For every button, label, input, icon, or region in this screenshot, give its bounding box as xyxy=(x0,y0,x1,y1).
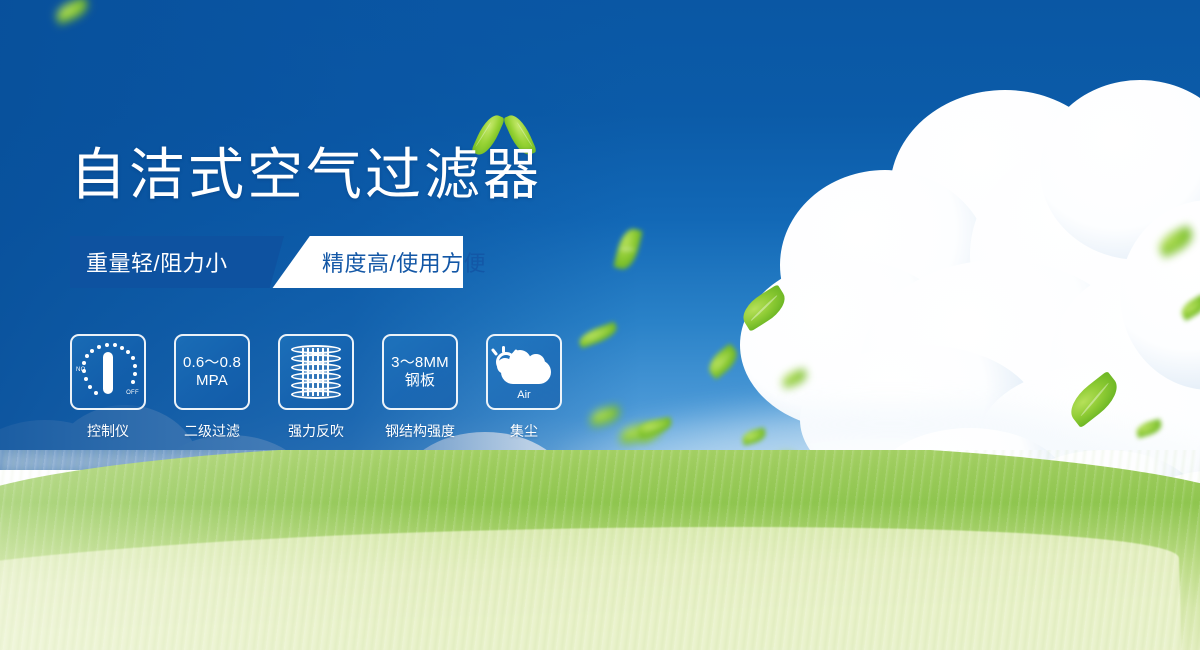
page-title: 自洁式空气过滤器 xyxy=(70,144,542,206)
feature-label: 二级过滤 xyxy=(174,421,250,441)
feature-item-blowback[interactable]: 强力反吹 xyxy=(278,334,354,441)
feature-icon-box: NO OFF xyxy=(70,334,146,410)
pressure-text-icon: 0.6～0.8 MPA xyxy=(183,354,241,391)
subtitle-bar: 重量轻/阻力小 精度高/使用方便 xyxy=(70,236,463,288)
steel-thickness: 3～8MM xyxy=(391,354,449,372)
dial-needle xyxy=(103,352,113,394)
feature-icon-box: 3～8MM 钢板 xyxy=(382,334,458,410)
feature-icon-box: Air xyxy=(486,334,562,410)
air-label: Air xyxy=(493,389,555,401)
subtitle-left-text: 重量轻/阻力小 xyxy=(86,236,228,288)
feature-list: NO OFF 控制仪 0.6～0.8 MPA 二级过滤 xyxy=(70,334,562,441)
steel-text-icon: 3～8MM 钢板 xyxy=(391,354,449,391)
feature-label: 集尘 xyxy=(486,421,562,441)
control-dial-icon: NO OFF xyxy=(75,339,141,405)
feature-icon-box xyxy=(278,334,354,410)
feature-label: 控制仪 xyxy=(70,421,146,441)
filter-coil-icon xyxy=(291,345,341,399)
promo-banner: 自洁式空气过滤器 重量轻/阻力小 精度高/使用方便 xyxy=(0,0,1200,650)
grass-field xyxy=(0,450,1200,650)
feature-item-filtration[interactable]: 0.6～0.8 MPA 二级过滤 xyxy=(174,334,250,441)
feature-icon-box: 0.6～0.8 MPA xyxy=(174,334,250,410)
dial-label-off: OFF xyxy=(126,390,139,396)
air-cloud-icon: Air xyxy=(493,346,555,398)
subtitle-right-text: 精度高/使用方便 xyxy=(322,236,486,288)
dial-label-no: NO xyxy=(76,367,86,373)
feature-label: 强力反吹 xyxy=(278,421,354,441)
grass-sheen xyxy=(0,450,1200,650)
pressure-unit: MPA xyxy=(183,372,241,390)
feature-label: 钢结构强度 xyxy=(368,421,472,441)
feature-item-dust[interactable]: Air 集尘 xyxy=(486,334,562,441)
feature-item-control[interactable]: NO OFF 控制仪 xyxy=(70,334,146,441)
pressure-range: 0.6～0.8 xyxy=(183,354,241,372)
feature-item-steel[interactable]: 3～8MM 钢板 钢结构强度 xyxy=(382,334,458,441)
steel-material: 钢板 xyxy=(391,372,449,390)
